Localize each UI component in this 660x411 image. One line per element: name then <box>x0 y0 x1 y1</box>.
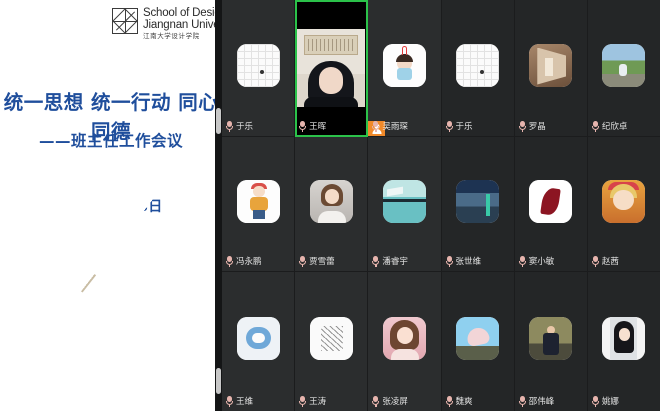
jiangnan-university-logo-icon <box>112 8 138 34</box>
logo-line-2: Jiangnan University <box>143 20 222 32</box>
participant-tile[interactable]: 王涛 <box>295 272 368 411</box>
microphone-muted-icon <box>592 396 599 407</box>
participant-avatar <box>310 317 353 360</box>
participant-tile[interactable]: 贾雪蕾 <box>295 137 368 272</box>
participant-nameplate: 于乐 <box>446 120 473 132</box>
shared-screen-slide[interactable]: School of Design Jiangnan University 江南大… <box>0 0 222 411</box>
microphone-muted-icon <box>299 396 306 407</box>
logo-text: School of Design Jiangnan University 江南大… <box>143 8 222 41</box>
school-logo: School of Design Jiangnan University 江南大… <box>112 8 222 41</box>
participant-tile[interactable]: 罗晶 <box>515 0 588 137</box>
participant-avatar <box>529 317 572 360</box>
active-speaker-video <box>297 2 365 134</box>
scrollbar-thumb-lower[interactable] <box>216 368 221 394</box>
microphone-muted-icon <box>592 256 599 267</box>
participant-nameplate: 窦小敏 <box>519 255 555 267</box>
participant-name: 赵茜 <box>602 255 619 267</box>
participant-nameplate: 潘睿宇 <box>372 255 408 267</box>
participant-row-1: 于乐王晖吴雨琛于乐罗晶纪欣卓 <box>222 0 660 137</box>
participant-nameplate: 冯永鹏 <box>226 255 262 267</box>
scrollbar-thumb-upper[interactable] <box>216 108 221 134</box>
participant-tile[interactable]: 纪欣卓 <box>588 0 660 137</box>
participant-name: 窦小敏 <box>529 255 555 267</box>
participant-tile[interactable]: 吴雨琛 <box>368 0 441 137</box>
microphone-muted-icon <box>226 121 233 132</box>
participant-name: 王维 <box>236 395 253 407</box>
participant-tile[interactable]: 王维 <box>222 272 295 411</box>
microphone-muted-icon <box>226 256 233 267</box>
participant-nameplate: 张凌屏 <box>372 395 408 407</box>
participant-avatar <box>237 180 280 223</box>
microphone-muted-icon <box>372 121 379 132</box>
participant-tile[interactable]: 冯永鹏 <box>222 137 295 272</box>
participant-nameplate: 吴雨琛 <box>372 120 408 132</box>
video-meeting-window: School of Design Jiangnan University 江南大… <box>0 0 660 411</box>
microphone-muted-icon <box>226 396 233 407</box>
participant-nameplate: 王维 <box>226 395 253 407</box>
participant-nameplate: 王涛 <box>299 395 326 407</box>
participant-tile[interactable]: 王晖 <box>295 0 368 137</box>
participant-avatar <box>456 44 499 87</box>
microphone-muted-icon <box>519 256 526 267</box>
participant-grid: 于乐王晖吴雨琛于乐罗晶纪欣卓 冯永鹏贾雪蕾潘睿宇张世维窦小敏赵茜 王维王涛张凌屏… <box>222 0 660 411</box>
participant-nameplate: 贾雪蕾 <box>299 255 335 267</box>
participant-name: 邵伟峰 <box>529 395 555 407</box>
participant-tile[interactable]: 于乐 <box>442 0 515 137</box>
participant-tile[interactable]: 魏爽 <box>442 272 515 411</box>
participant-avatar <box>602 44 645 87</box>
participant-name: 于乐 <box>236 120 253 132</box>
participant-name: 吴雨琛 <box>382 120 408 132</box>
participant-avatar <box>383 317 426 360</box>
participant-tile[interactable]: 赵茜 <box>588 137 660 272</box>
microphone-muted-icon <box>446 121 453 132</box>
participant-nameplate: 纪欣卓 <box>592 120 628 132</box>
participant-row-3: 王维王涛张凌屏魏爽邵伟峰姚娜 <box>222 272 660 411</box>
participant-name: 姚娜 <box>602 395 619 407</box>
participant-avatar <box>383 180 426 223</box>
participant-row-2: 冯永鹏贾雪蕾潘睿宇张世维窦小敏赵茜 <box>222 137 660 272</box>
logo-line-cn: 江南大学设计学院 <box>143 34 222 41</box>
participant-name: 纪欣卓 <box>602 120 628 132</box>
slide-subtitle: ——班主任工作会议 <box>0 129 222 151</box>
microphone-muted-icon <box>372 256 379 267</box>
participant-nameplate: 姚娜 <box>592 395 619 407</box>
participant-tile[interactable]: 窦小敏 <box>515 137 588 272</box>
microphone-muted-icon <box>519 396 526 407</box>
participant-name: 张凌屏 <box>382 395 408 407</box>
microphone-muted-icon <box>299 256 306 267</box>
slide-scrollbar[interactable] <box>215 0 222 411</box>
participant-avatar <box>529 44 572 87</box>
participant-nameplate: 张世维 <box>446 255 482 267</box>
participant-nameplate: 罗晶 <box>519 120 546 132</box>
participant-avatar <box>602 180 645 223</box>
participant-avatar <box>237 317 280 360</box>
microphone-muted-icon <box>372 396 379 407</box>
participant-nameplate: 邵伟峰 <box>519 395 555 407</box>
microphone-muted-icon <box>446 396 453 407</box>
participant-tile[interactable]: 张凌屏 <box>368 272 441 411</box>
participant-name: 潘睿宇 <box>382 255 408 267</box>
participant-name: 贾雪蕾 <box>309 255 335 267</box>
slide-decoration-image: 设 计 学 院 <box>0 191 185 411</box>
microphone-muted-icon <box>519 121 526 132</box>
participant-name: 王晖 <box>309 120 326 132</box>
participant-avatar <box>529 180 572 223</box>
participant-name: 魏爽 <box>456 395 473 407</box>
participant-avatar <box>602 317 645 360</box>
participant-nameplate: 赵茜 <box>592 255 619 267</box>
participant-name: 冯永鹏 <box>236 255 262 267</box>
participant-tile[interactable]: 于乐 <box>222 0 295 137</box>
participant-nameplate: 于乐 <box>226 120 253 132</box>
microphone-muted-icon <box>299 121 306 132</box>
participant-name: 王涛 <box>309 395 326 407</box>
participant-tile[interactable]: 邵伟峰 <box>515 272 588 411</box>
participant-avatar <box>310 180 353 223</box>
participant-tile[interactable]: 张世维 <box>442 137 515 272</box>
participant-nameplate: 魏爽 <box>446 395 473 407</box>
microphone-muted-icon <box>446 256 453 267</box>
participant-avatar <box>237 44 280 87</box>
participant-avatar <box>383 44 426 87</box>
participant-tile[interactable]: 潘睿宇 <box>368 137 441 272</box>
participant-name: 于乐 <box>456 120 473 132</box>
participant-avatar <box>456 317 499 360</box>
participant-name: 罗晶 <box>529 120 546 132</box>
participant-nameplate: 王晖 <box>299 120 326 132</box>
participant-name: 张世维 <box>456 255 482 267</box>
participant-tile[interactable]: 姚娜 <box>588 272 660 411</box>
participant-avatar <box>456 180 499 223</box>
microphone-muted-icon <box>592 121 599 132</box>
